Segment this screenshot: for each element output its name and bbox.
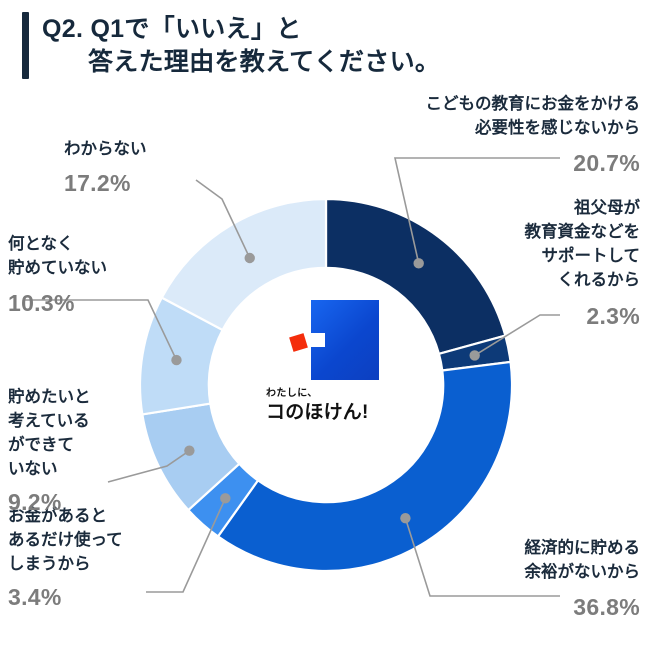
callout-label-line: あるだけ使って bbox=[8, 528, 123, 552]
callout-percent: 2.3% bbox=[525, 301, 641, 331]
callout-label-line: 余裕がないから bbox=[525, 560, 641, 584]
leader-dot bbox=[184, 445, 194, 455]
callout-label-line: しまうから bbox=[8, 552, 123, 576]
callout-label-line: わからない bbox=[64, 137, 147, 161]
callout-dont-know: わからない 17.2% bbox=[64, 137, 147, 198]
leader-dot bbox=[413, 258, 423, 268]
callout-want-to-save: 貯めたいと 考えている ができて いない 9.2% bbox=[8, 385, 91, 517]
callout-percent: 10.3% bbox=[8, 288, 107, 318]
center-logo: わたしに、 コのほけん! bbox=[248, 300, 403, 450]
callout-label-line: 何となく bbox=[8, 232, 107, 256]
callout-label-line: いない bbox=[8, 457, 91, 481]
callout-label-line: サポートして bbox=[525, 244, 641, 268]
leader-dot bbox=[400, 513, 410, 523]
logo-tagline: わたしに、 bbox=[266, 387, 403, 400]
callout-label-line: 教育資金などを bbox=[525, 220, 641, 244]
callout-spend: お金があると あるだけ使って しまうから 3.4% bbox=[8, 504, 123, 612]
callout-somehow: 何となく 貯めていない 10.3% bbox=[8, 232, 107, 318]
callout-label-line: くれるから bbox=[525, 268, 641, 292]
logo-red-square bbox=[289, 333, 308, 352]
callout-percent: 17.2% bbox=[64, 168, 147, 198]
callout-label-line: 経済的に貯める bbox=[525, 536, 641, 560]
callout-percent: 9.2% bbox=[8, 487, 91, 517]
logo-mark-icon bbox=[287, 300, 379, 380]
callout-percent: 20.7% bbox=[426, 148, 641, 178]
donut-chart: わたしに、 コのほけん! こどもの教育にお金をかける 必要性を感じないから 20… bbox=[0, 0, 650, 650]
callout-economic: 経済的に貯める 余裕がないから 36.8% bbox=[525, 536, 641, 622]
callout-education: こどもの教育にお金をかける 必要性を感じないから 20.7% bbox=[426, 92, 641, 178]
callout-label-line: 貯めたいと bbox=[8, 385, 91, 409]
callout-label-line: 考えている bbox=[8, 409, 91, 433]
callout-label-line: ができて bbox=[8, 433, 91, 457]
leader-dot bbox=[171, 355, 181, 365]
callout-percent: 36.8% bbox=[525, 592, 641, 622]
leader-dot bbox=[220, 493, 230, 503]
leader-dot bbox=[469, 350, 479, 360]
callout-percent: 3.4% bbox=[8, 582, 123, 612]
callout-label-line: 貯めていない bbox=[8, 256, 107, 280]
callout-grandparents: 祖父母が 教育資金などを サポートして くれるから 2.3% bbox=[525, 196, 641, 331]
logo-notch bbox=[311, 333, 325, 347]
callout-label-line: 必要性を感じないから bbox=[426, 116, 641, 140]
callout-label-line: こどもの教育にお金をかける bbox=[426, 92, 641, 116]
callout-label-line: 祖父母が bbox=[525, 196, 641, 220]
logo-name: コのほけん! bbox=[266, 401, 403, 424]
leader-dot bbox=[245, 253, 255, 263]
logo-text: わたしに、 コのほけん! bbox=[248, 387, 403, 424]
